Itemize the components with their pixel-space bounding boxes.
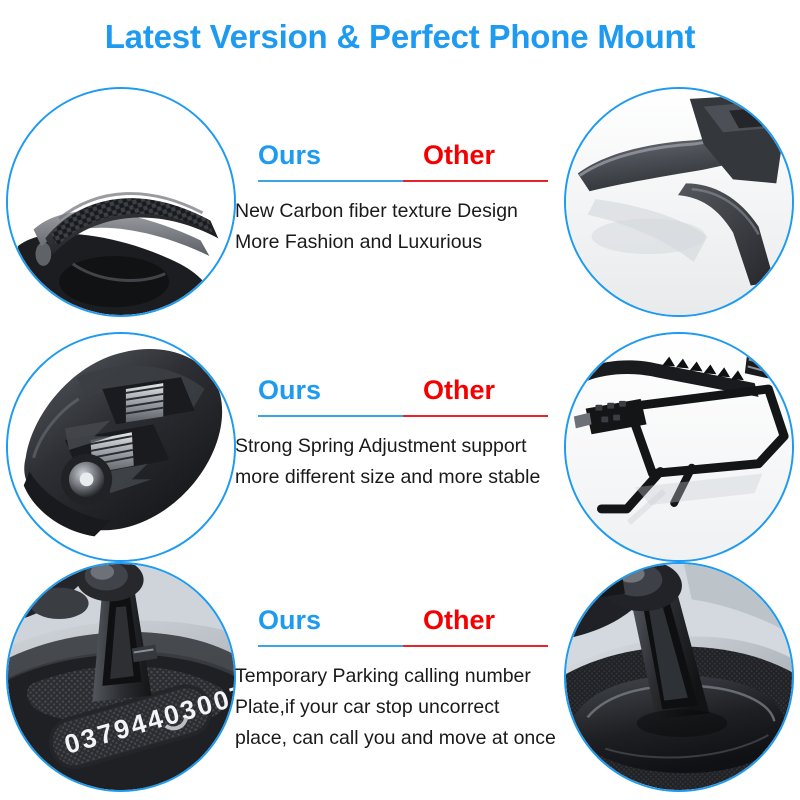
parking-number-plate-image: 03794403007 bbox=[8, 564, 234, 790]
comparison-text-3: Ours Other Temporary Parking calling num… bbox=[235, 605, 575, 754]
ours-label: Ours bbox=[258, 605, 321, 636]
feature-description-1: New Carbon fiber texture Design More Fas… bbox=[235, 196, 575, 258]
description-line: More Fashion and Luxurious bbox=[235, 227, 575, 258]
divider-blue-segment bbox=[258, 645, 403, 647]
description-line: New Carbon fiber texture Design bbox=[235, 196, 575, 227]
other-label: Other bbox=[423, 140, 495, 171]
comparison-header-2: Ours Other bbox=[235, 375, 575, 417]
mount-without-plate-photo bbox=[564, 562, 794, 792]
comparison-divider bbox=[258, 645, 548, 647]
comparison-header-1: Ours Other bbox=[235, 140, 575, 182]
comparison-row-3: 03794403007 Ours Other bbox=[0, 560, 800, 800]
divider-red-segment bbox=[403, 415, 548, 417]
wireframe-clip-mount-photo bbox=[564, 332, 794, 562]
ours-label: Ours bbox=[258, 375, 321, 406]
carbon-fiber-mount-photo bbox=[6, 87, 236, 317]
dual-spring-hinge-photo bbox=[6, 332, 236, 562]
divider-blue-segment bbox=[258, 180, 403, 182]
plain-plastic-mount-image bbox=[566, 89, 792, 315]
other-label: Other bbox=[423, 605, 495, 636]
feature-description-3: Temporary Parking calling number Plate,i… bbox=[235, 661, 575, 754]
comparison-text-1: Ours Other New Carbon fiber texture Desi… bbox=[235, 140, 575, 258]
description-line: Strong Spring Adjustment support bbox=[235, 431, 575, 462]
other-label: Other bbox=[423, 375, 495, 406]
plain-plastic-mount-photo bbox=[564, 87, 794, 317]
divider-red-segment bbox=[403, 180, 548, 182]
description-line: place, can call you and move at once bbox=[235, 723, 575, 754]
description-line: more different size and more stable bbox=[235, 462, 575, 493]
comparison-divider bbox=[258, 180, 548, 182]
comparison-row-1: Ours Other New Carbon fiber texture Desi… bbox=[0, 85, 800, 325]
description-line: Plate,if your car stop uncorrect bbox=[235, 692, 575, 723]
feature-description-2: Strong Spring Adjustment support more di… bbox=[235, 431, 575, 493]
description-line: Temporary Parking calling number bbox=[235, 661, 575, 692]
comparison-row-2: Ours Other Strong Spring Adjustment supp… bbox=[0, 330, 800, 570]
ours-label: Ours bbox=[258, 140, 321, 171]
comparison-divider bbox=[258, 415, 548, 417]
dual-spring-hinge-image bbox=[8, 334, 234, 560]
carbon-fiber-mount-image bbox=[8, 89, 234, 315]
mount-without-plate-image bbox=[566, 564, 792, 790]
comparison-text-2: Ours Other Strong Spring Adjustment supp… bbox=[235, 375, 575, 493]
parking-number-plate-photo: 03794403007 bbox=[6, 562, 236, 792]
divider-red-segment bbox=[403, 645, 548, 647]
comparison-header-3: Ours Other bbox=[235, 605, 575, 647]
wireframe-clip-mount-image bbox=[566, 334, 792, 560]
divider-blue-segment bbox=[258, 415, 403, 417]
page-title: Latest Version & Perfect Phone Mount bbox=[0, 18, 800, 56]
